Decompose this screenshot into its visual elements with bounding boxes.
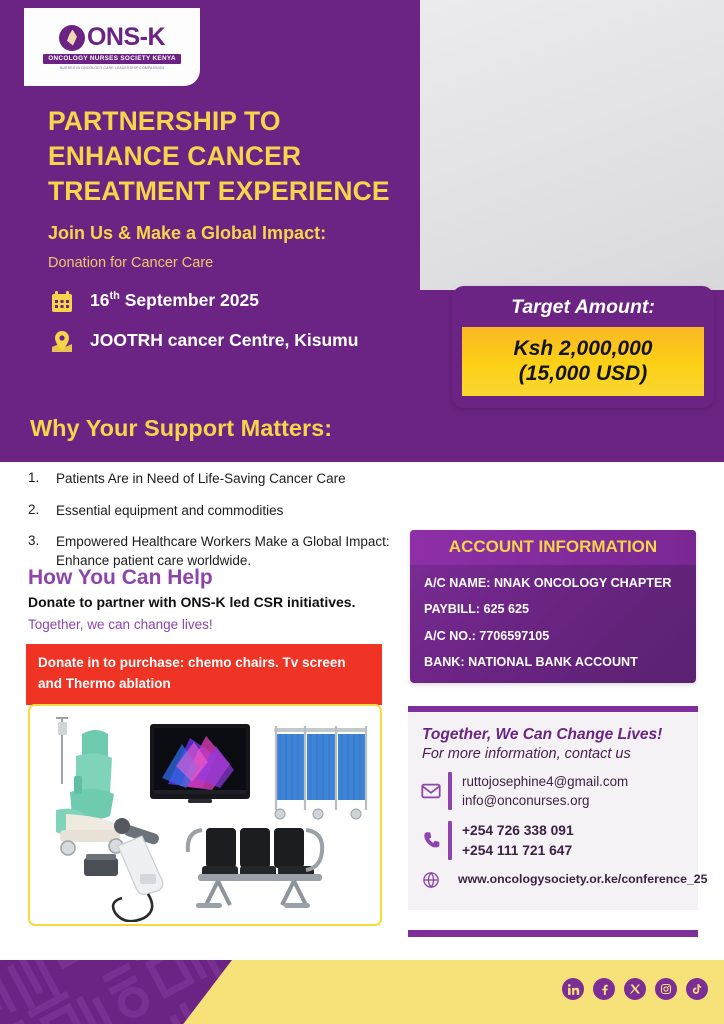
how-to-help-heading: How You Can Help [28, 566, 400, 590]
divider [448, 772, 452, 810]
list-item-number: 1. [28, 470, 44, 489]
list-item-label: Patients Are in Need of Life-Saving Canc… [56, 470, 346, 489]
divider [448, 821, 452, 860]
logo-subtitle: ONCOLOGY NURSES SOCIETY KENYA [43, 54, 181, 64]
target-amount-value: Ksh 2,000,000 (15,000 USD) [462, 327, 704, 396]
hands-photo [383, 0, 724, 290]
chemo-chair-image [56, 718, 123, 855]
contact-website[interactable]: www.oncologysociety.or.ke/conference_25 [458, 871, 707, 888]
account-info-heading: ACCOUNT INFORMATION [410, 530, 696, 565]
target-amount-card: Target Amount: Ksh 2,000,000 (15,000 USD… [452, 286, 714, 408]
contact-email-row: ruttojosephine4@gmail.com info@onconurse… [408, 772, 698, 821]
target-amount-usd: (15,000 USD) [466, 361, 700, 386]
social-links [562, 978, 708, 1000]
contact-bottom-divider [408, 930, 698, 937]
location-pin-icon [48, 328, 76, 356]
contact-emails: ruttojosephine4@gmail.com info@onconurse… [462, 772, 628, 810]
target-amount-ksh: Ksh 2,000,000 [466, 336, 700, 361]
contact-phones: +254 726 338 091 +254 111 721 647 [462, 821, 574, 860]
contact-heading: Together, We Can Change Lives! [408, 726, 698, 746]
event-venue: JOOTRH cancer Centre, Kisumu [90, 328, 358, 351]
target-amount-label: Target Amount: [462, 296, 704, 319]
list-item-number: 2. [28, 502, 44, 521]
contact-email-1[interactable]: ruttojosephine4@gmail.com [462, 774, 628, 789]
how-to-help-section: How You Can Help Donate to partner with … [28, 566, 400, 632]
donation-callout: Donate in to purchase: chemo chairs. Tv … [26, 644, 382, 705]
contact-phone-row: +254 726 338 091 +254 111 721 647 [408, 821, 698, 871]
hero-text-panel: ONS-K ONCOLOGY NURSES SOCIETY KENYA NURS… [0, 0, 420, 390]
equipment-gallery [28, 704, 382, 926]
logo-emblem-icon [59, 25, 85, 51]
ons-k-logo: ONS-K ONCOLOGY NURSES SOCIETY KENYA NURS… [24, 8, 200, 86]
calendar-icon [48, 288, 76, 316]
account-number: A/C NO.: 7706597105 [424, 628, 682, 644]
facebook-icon[interactable] [593, 978, 615, 1000]
hospital-screen-image [274, 726, 366, 819]
list-item: 3. Empowered Healthcare Workers Make a G… [28, 533, 400, 570]
envelope-icon [418, 780, 444, 802]
contact-phone-1[interactable]: +254 726 338 091 [462, 823, 574, 838]
contact-phone-2[interactable]: +254 111 721 647 [462, 843, 572, 858]
logo-wordmark: ONS-K [87, 25, 165, 50]
poster-root: ONS-K ONCOLOGY NURSES SOCIETY KENYA NURS… [0, 0, 724, 1024]
list-item: 1. Patients Are in Need of Life-Saving C… [28, 470, 400, 489]
why-support-title: Why Your Support Matters: [30, 415, 332, 442]
how-to-help-line1: Donate to partner with ONS-K led CSR ini… [28, 594, 400, 610]
hero-subheading: Join Us & Make a Global Impact: [48, 222, 418, 245]
list-item-label: Essential equipment and commodities [56, 502, 283, 521]
list-item: 2. Essential equipment and commodities [28, 502, 400, 521]
list-item-label: Empowered Healthcare Workers Make a Glob… [56, 533, 400, 570]
contact-subheading: For more information, contact us [408, 746, 698, 772]
x-twitter-icon[interactable] [624, 978, 646, 1000]
contact-email-2[interactable]: info@onconurses.org [462, 793, 590, 808]
event-meta: 16th September 2025 JOOTRH cancer Centre… [48, 288, 418, 368]
hero-subheading-secondary: Donation for Cancer Care [48, 254, 418, 273]
logo-tagline: NURSES IN ONCOLOGY CARE LEADERSHIP COMPA… [60, 66, 164, 70]
how-to-help-line2: Together, we can change lives! [28, 617, 400, 632]
account-paybill: PAYBILL: 625 625 [424, 601, 682, 617]
hero-band: ONS-K ONCOLOGY NURSES SOCIETY KENYA NURS… [0, 0, 724, 462]
tv-screen-image [150, 724, 250, 803]
instagram-icon[interactable] [655, 978, 677, 1000]
list-item-number: 3. [28, 533, 44, 570]
account-name: A/C NAME: NNAK ONCOLOGY CHAPTER [424, 575, 682, 591]
contact-section: Together, We Can Change Lives! For more … [408, 712, 698, 910]
tiktok-icon[interactable] [686, 978, 708, 1000]
waiting-bench-image [188, 828, 322, 908]
event-date: 16th September 2025 [90, 288, 259, 311]
account-information-card: ACCOUNT INFORMATION A/C NAME: NNAK ONCOL… [410, 530, 696, 683]
globe-icon [418, 871, 444, 889]
event-date-row: 16th September 2025 [48, 288, 418, 316]
linkedin-icon[interactable] [562, 978, 584, 1000]
page-title: PARTNERSHIP TO ENHANCE CANCER TREATMENT … [48, 104, 418, 209]
contact-website-row: www.oncologysociety.or.ke/conference_25 [408, 871, 698, 900]
event-venue-row: JOOTRH cancer Centre, Kisumu [48, 328, 418, 356]
account-bank: BANK: NATIONAL BANK ACCOUNT [424, 654, 682, 670]
phone-icon [418, 830, 444, 851]
